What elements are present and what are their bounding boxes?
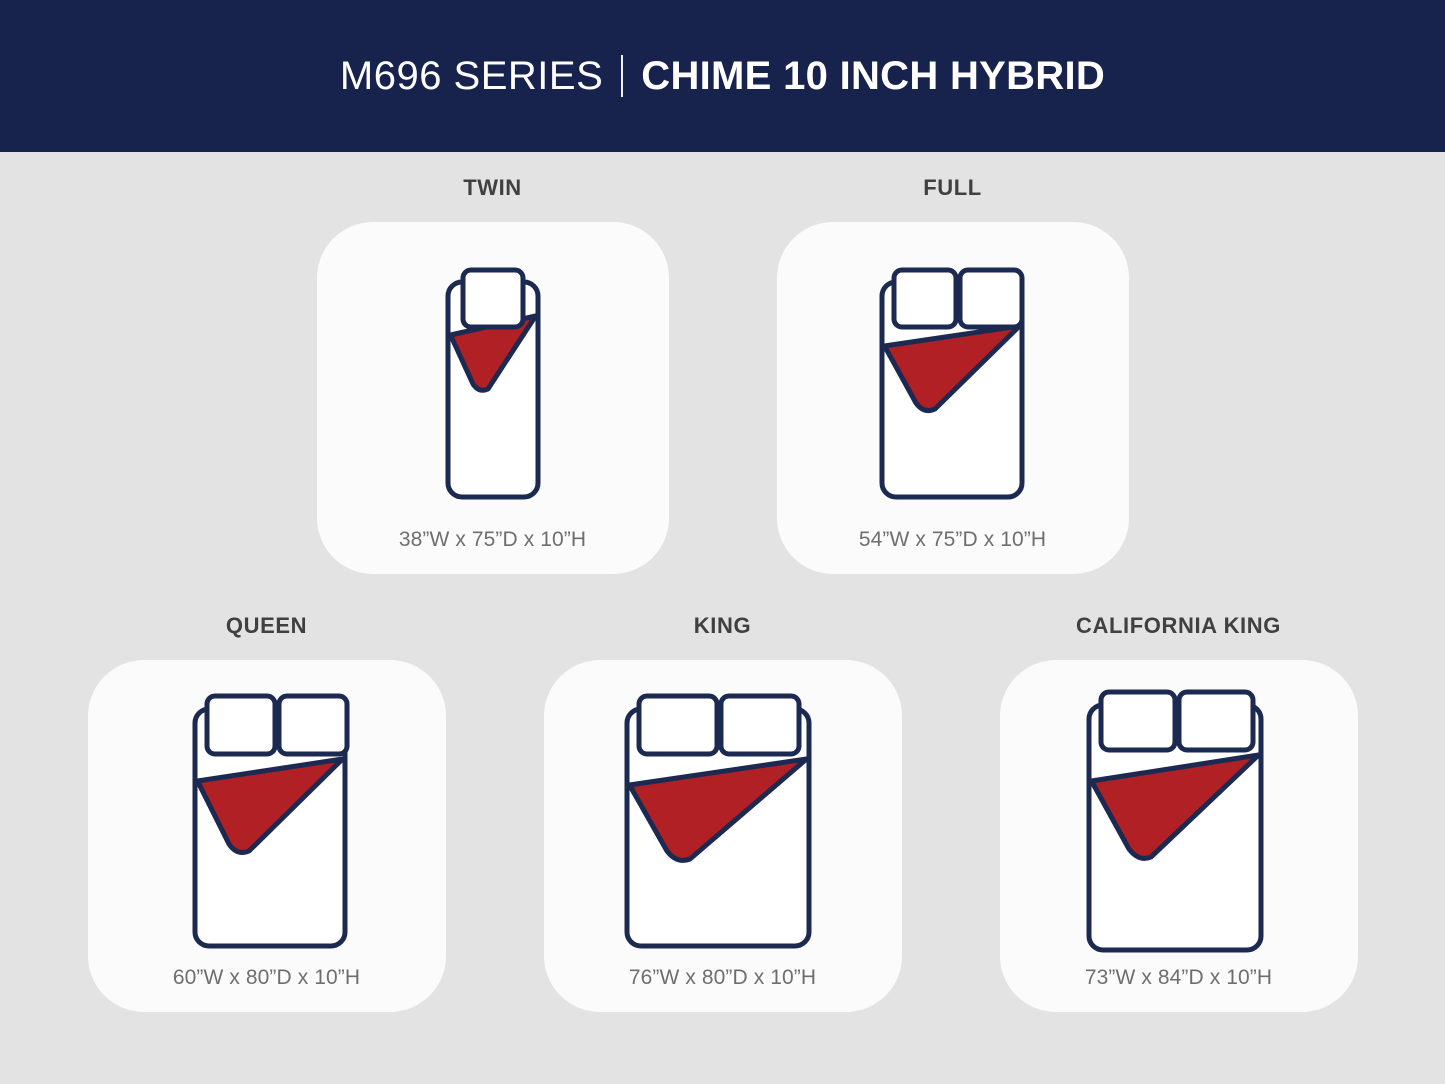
mattress-size-guide: M696 SERIES CHIME 10 INCH HYBRID TWIN: [0, 0, 1445, 1084]
bed-diagram-twin: [393, 264, 593, 509]
bed-diagram-full: [840, 264, 1065, 509]
header-title-group: M696 SERIES CHIME 10 INCH HYBRID: [340, 54, 1105, 99]
pillow-1: [207, 696, 275, 754]
bed-diagram-king: [595, 689, 850, 954]
pillow-2: [960, 270, 1022, 327]
bed-illustration-twin: [393, 244, 593, 528]
size-card-full[interactable]: 54”W x 75”D x 10”H: [777, 222, 1129, 574]
size-cell-king: KING 76”W x 80”D x 10”H: [544, 613, 902, 1012]
series-label: M696 SERIES: [340, 54, 603, 99]
bed-illustration-full: [840, 244, 1065, 528]
pillow-2: [279, 696, 347, 754]
pillow-2: [1179, 692, 1253, 750]
size-cell-twin: TWIN 38”W x 75”D x 10”H: [317, 175, 669, 574]
size-title-queen: QUEEN: [226, 613, 307, 639]
size-title-twin: TWIN: [463, 175, 522, 201]
size-row-top: TWIN 38”W x 75”D x 10”H FULL: [0, 175, 1445, 574]
dimensions-twin: 38”W x 75”D x 10”H: [399, 528, 586, 574]
dimensions-full: 54”W x 75”D x 10”H: [859, 528, 1046, 574]
size-title-full: FULL: [923, 175, 982, 201]
size-card-queen[interactable]: 60”W x 80”D x 10”H: [88, 660, 446, 1012]
bed-diagram-queen: [147, 689, 387, 954]
dimensions-king: 76”W x 80”D x 10”H: [629, 966, 816, 1012]
title-separator: [621, 55, 623, 97]
pillow-1: [1101, 692, 1175, 750]
bed-illustration-california-king: [1051, 676, 1306, 966]
size-cell-california-king: CALIFORNIA KING 73”W x 84”D x 10”H: [1000, 613, 1358, 1012]
size-card-california-king[interactable]: 73”W x 84”D x 10”H: [1000, 660, 1358, 1012]
pillow-1: [894, 270, 956, 327]
size-cell-full: FULL 54”W x 75”D x 10”H: [777, 175, 1129, 574]
size-title-california-king: CALIFORNIA KING: [1076, 613, 1281, 639]
bed-illustration-queen: [147, 676, 387, 966]
size-cell-queen: QUEEN 60”W x 80”D x 10”H: [88, 613, 446, 1012]
model-name-label: CHIME 10 INCH HYBRID: [641, 54, 1105, 99]
bed-illustration-king: [595, 676, 850, 966]
pillow-1: [639, 696, 717, 754]
size-title-king: KING: [694, 613, 751, 639]
size-card-king[interactable]: 76”W x 80”D x 10”H: [544, 660, 902, 1012]
size-row-bottom: QUEEN 60”W x 80”D x 10”H KING: [0, 613, 1445, 1012]
header-bar: M696 SERIES CHIME 10 INCH HYBRID: [0, 0, 1445, 152]
size-card-twin[interactable]: 38”W x 75”D x 10”H: [317, 222, 669, 574]
dimensions-california-king: 73”W x 84”D x 10”H: [1085, 966, 1272, 1012]
dimensions-queen: 60”W x 80”D x 10”H: [173, 966, 360, 1012]
pillow-1: [463, 270, 523, 327]
pillow-2: [721, 696, 799, 754]
bed-diagram-california-king: [1051, 685, 1306, 957]
